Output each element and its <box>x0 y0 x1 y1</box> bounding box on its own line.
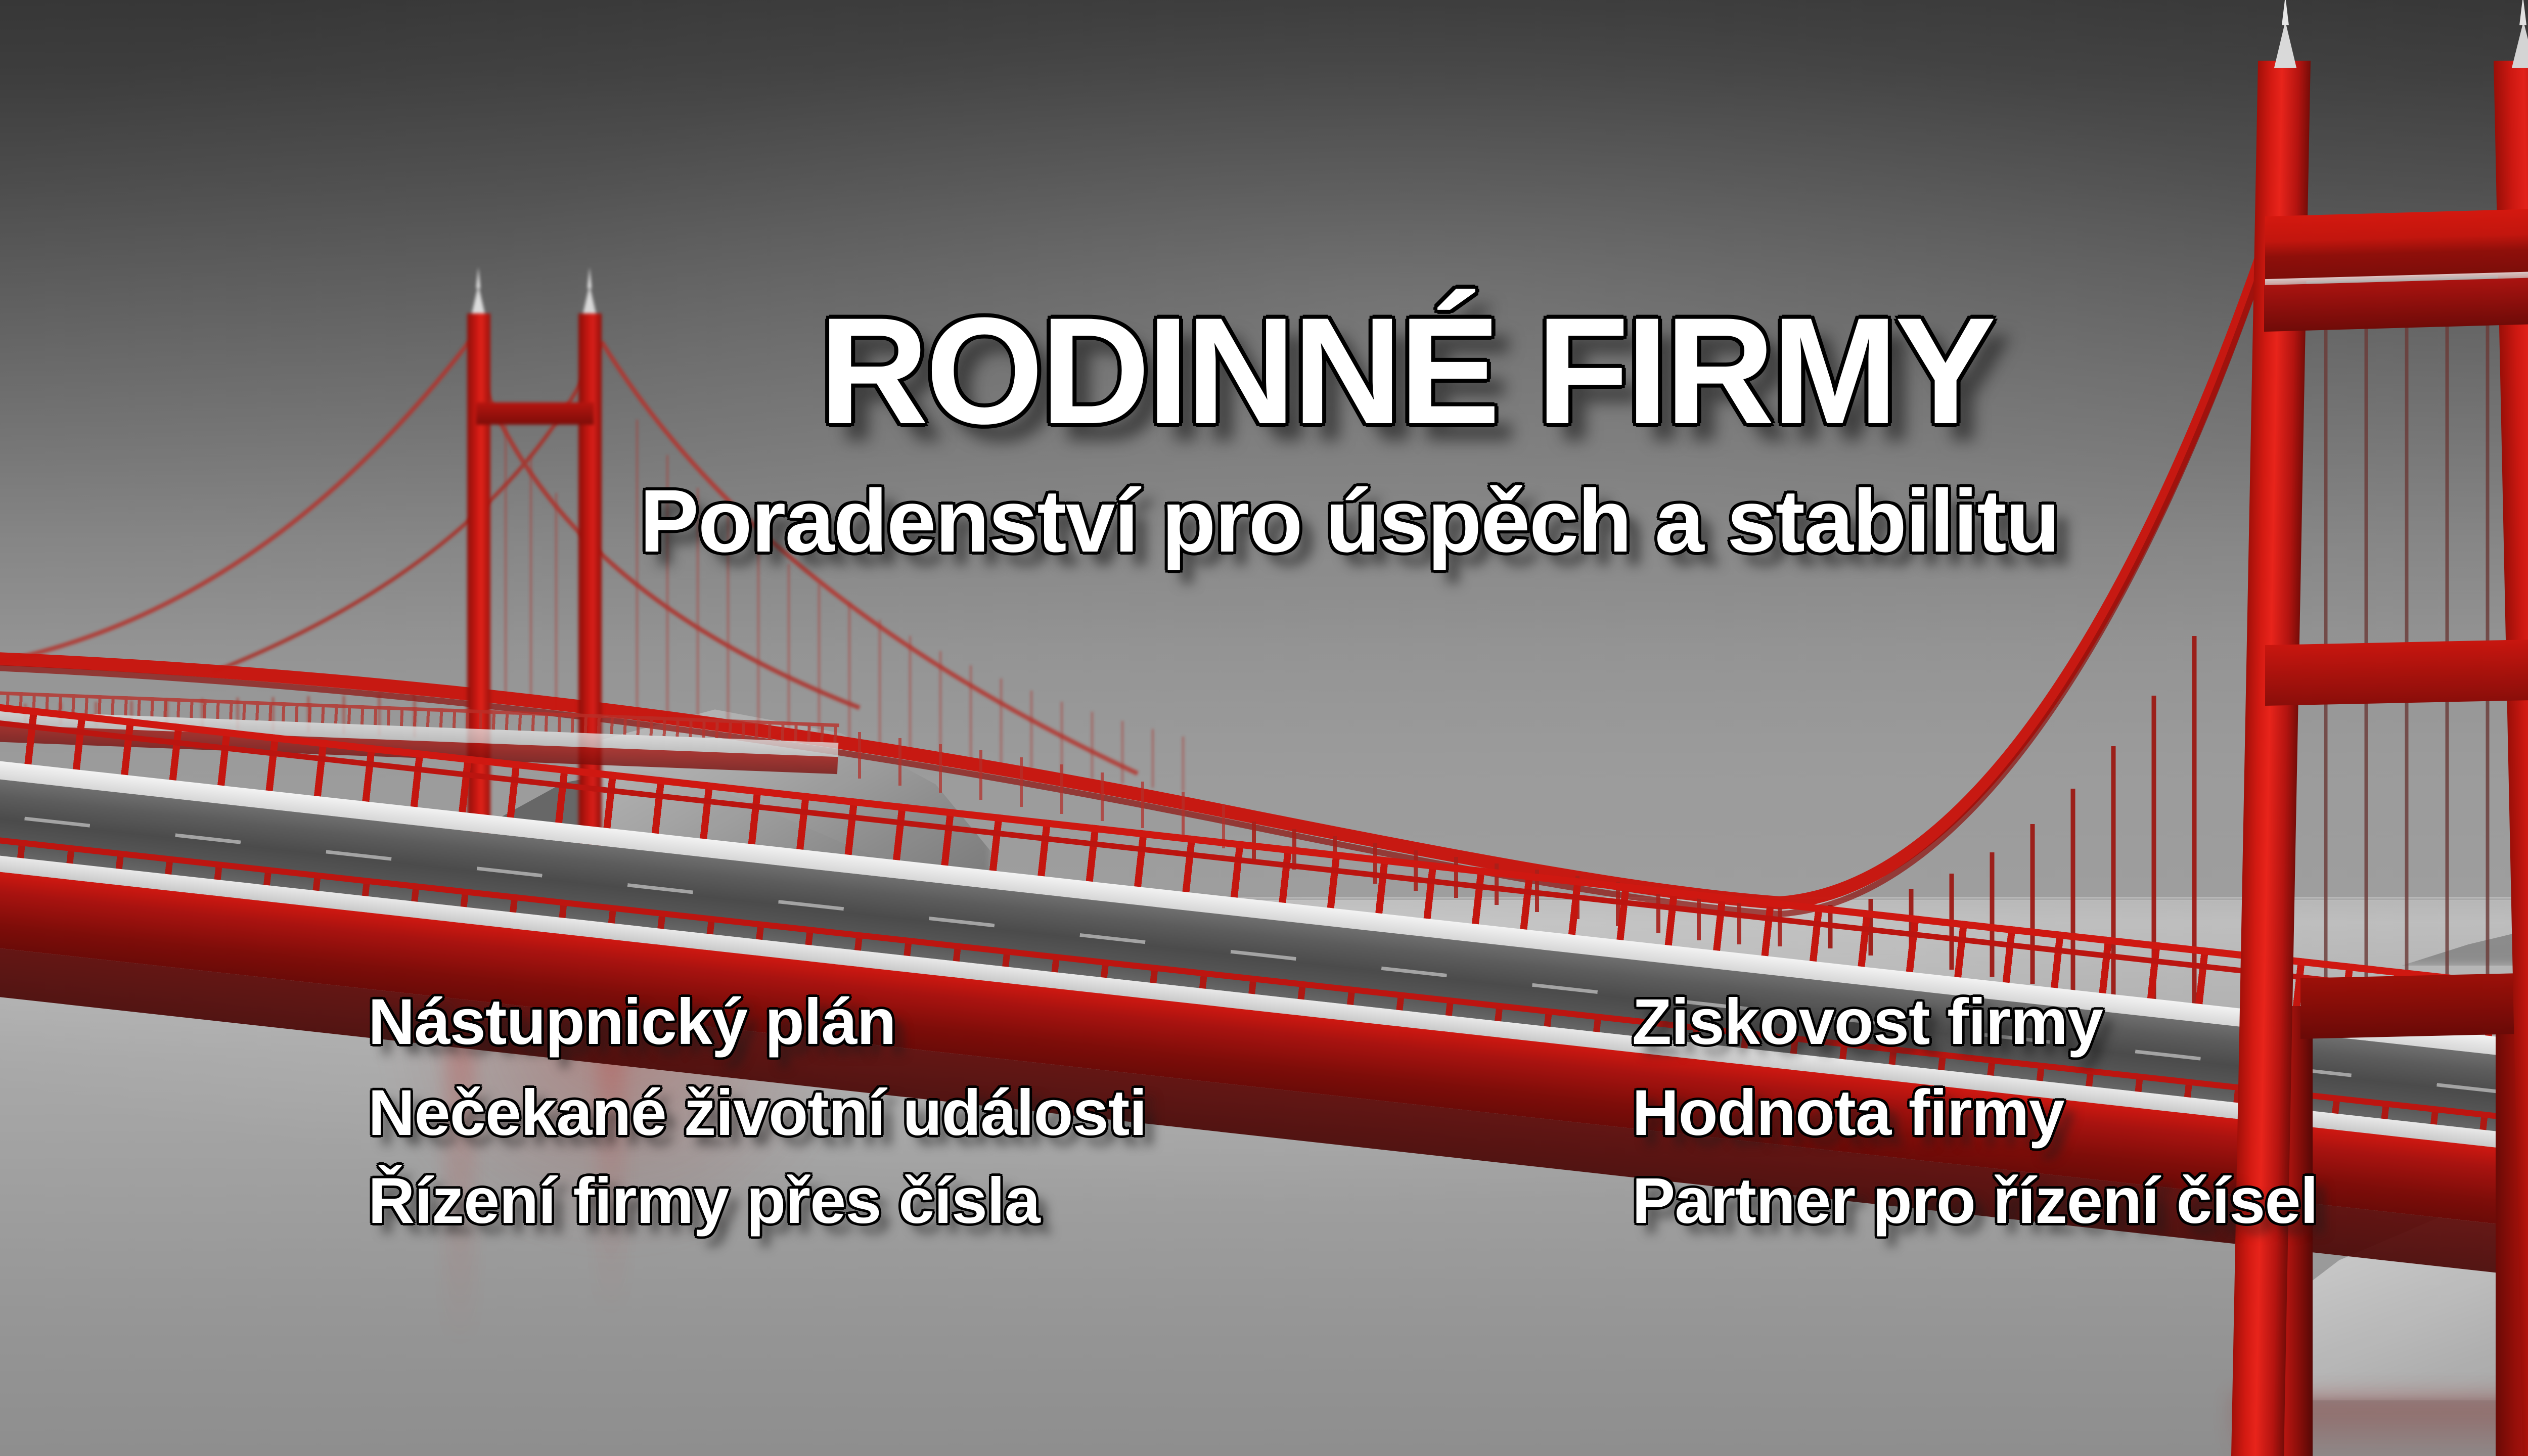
tower-far-spire-left-tip <box>476 267 480 288</box>
banner-canvas: RODINNÉ FIRMY Poradenství pro úspěch a s… <box>0 0 2528 1456</box>
tower-far-spire-right-tip <box>588 267 592 288</box>
tower-near-spire-right <box>2512 21 2528 68</box>
service-item-successor-plan: Nástupnický plán <box>368 985 896 1059</box>
tower-near-spire-left <box>2274 21 2296 68</box>
page-subtitle: Poradenství pro úspěch a stabilitu <box>640 470 2059 572</box>
tower-near-crossbeam-upper <box>2265 208 2528 282</box>
tower-near-spire-left-tip <box>2282 0 2289 25</box>
service-item-numbers-partner: Partner pro řízení čísel <box>1632 1164 2318 1238</box>
tower-far-crossbeam <box>476 402 594 425</box>
page-title: RODINNÉ FIRMY <box>819 283 1993 458</box>
tower-near-spire-right-tip <box>2519 0 2526 25</box>
tower-near-crossbeam-lower <box>2265 639 2528 706</box>
tower-near-crossbeam-under <box>2264 277 2528 332</box>
service-item-company-value: Hodnota firmy <box>1632 1076 2064 1150</box>
service-item-unexpected-events: Nečekané životní události <box>368 1076 1147 1150</box>
tower-far-spire-left <box>471 285 485 315</box>
service-item-managing-by-numbers: Řízení firmy přes čísla <box>368 1164 1040 1238</box>
tower-far-spire-right <box>582 285 597 315</box>
service-item-profitability: Ziskovost firmy <box>1632 985 2103 1059</box>
tower-near-base-strut <box>2300 973 2518 1039</box>
bridge-tower-near <box>2209 61 2528 1456</box>
